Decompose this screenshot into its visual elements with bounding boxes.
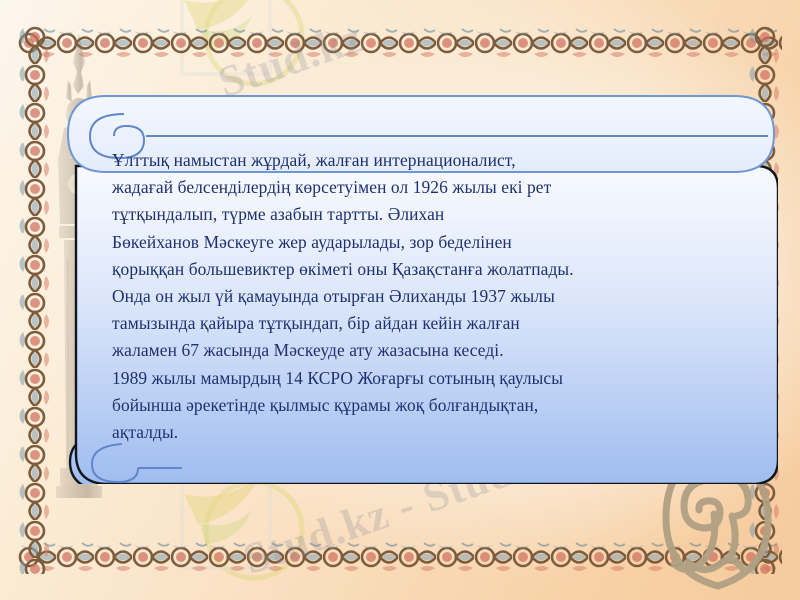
callout-body-text: Ұлттық намыстан жұрдай, жалған интернаци… <box>112 147 724 446</box>
callout-line: тамызында қайыра тұтқындап, бір айдан ке… <box>112 310 724 337</box>
border-ornament-top <box>18 26 782 60</box>
callout-line: Ұлттық намыстан жұрдай, жалған интернаци… <box>112 147 724 174</box>
callout-line: бойынша әрекетінде қылмыс құрамы жоқ бол… <box>112 392 724 419</box>
callout-line: Онда он жыл үй қамауында отырған Әлиханд… <box>112 283 724 310</box>
callout-line: тұтқындалып, түрме азабын тартты. Әлихан <box>112 201 724 228</box>
border-ornament-left <box>18 26 52 574</box>
border-ornament-bottom <box>18 540 782 574</box>
callout-line: 1989 жылы мамырдың 14 КСРО Жоғарғы сотын… <box>112 365 724 392</box>
callout-line: ақталды. <box>112 419 724 446</box>
callout-line: жадағай белсенділердің көрсетуімен ол 19… <box>112 174 724 201</box>
callout-line: жаламен 67 жасында Мәскеуде ату жазасына… <box>112 337 724 364</box>
stud-kz-logo-watermark-bottom <box>176 470 326 600</box>
slide-canvas: Stud.kz Stud.kz - Stud.kz Stud.kz - Stud… <box>0 0 800 600</box>
scroll-callout: Ұлттық намыстан жұрдай, жалған интернаци… <box>62 92 778 484</box>
callout-line: Бөкейханов Мәскеуге жер аударылады, зор … <box>112 229 724 256</box>
callout-line: қорыққан большевиктер өкіметі оны Қазақс… <box>112 256 724 283</box>
